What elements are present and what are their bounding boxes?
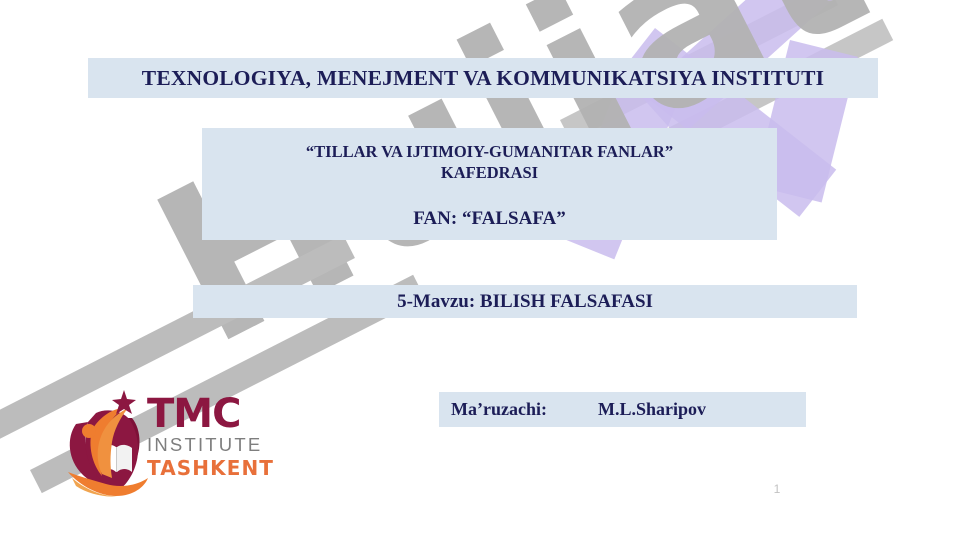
logo-brand: TMC (147, 394, 277, 434)
logo-wordmark: TMC INSTITUTE TASHKENT (147, 394, 277, 480)
page-number: 1 (762, 482, 792, 496)
lecturer-name: M.L.Sharipov (598, 399, 706, 419)
department-line-1: “TILLAR VA IJTIMOIY-GUMANITAR FANLAR” (306, 142, 673, 161)
tmc-institute-logo: TMC INSTITUTE TASHKENT (62, 386, 277, 501)
institute-title: TEXNOLOGIYA, MENEJMENT VA KOMMUNIKATSIYA… (88, 58, 878, 98)
lecturer-block: Ma’ruzachi: M.L.Sharipov (439, 392, 806, 427)
subject-name: FAN: “FALSAFA” (202, 208, 777, 229)
lecturer-label: Ma’ruzachi: (451, 399, 547, 419)
logo-subbrand: INSTITUTE (147, 434, 277, 456)
department-block: “TILLAR VA IJTIMOIY-GUMANITAR FANLAR” KA… (202, 128, 777, 240)
presentation-slide: Hujjat TEXNOLOGIYA, MENEJMENT VA KOMMUNI… (0, 0, 961, 540)
lecture-topic: 5-Mavzu: BILISH FALSAFASI (193, 285, 857, 318)
flame-book-star-shield-icon (62, 386, 150, 498)
department-line-2: KAFEDRASI (441, 163, 538, 182)
logo-city: TASHKENT (147, 456, 277, 480)
